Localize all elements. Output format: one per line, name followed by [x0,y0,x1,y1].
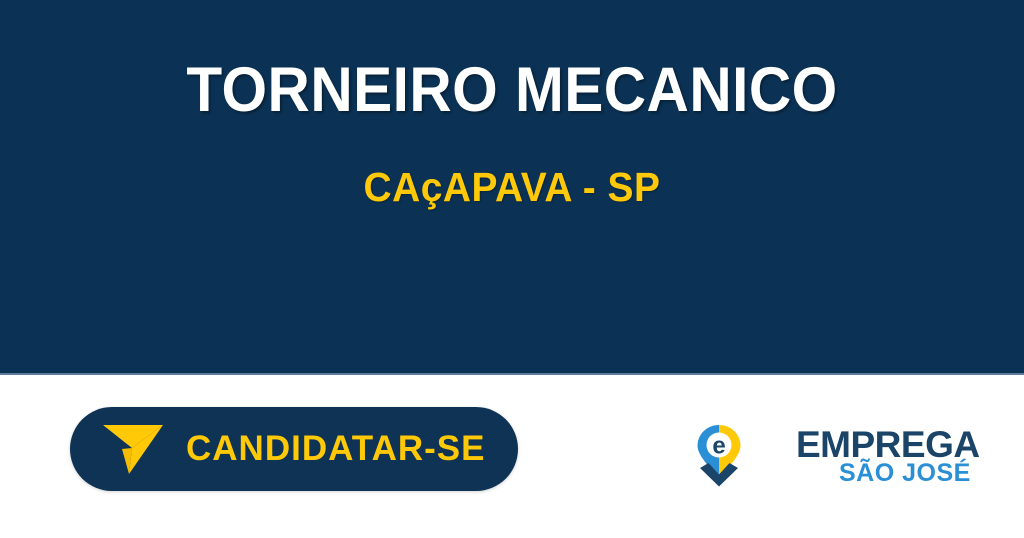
hero-panel: TORNEIRO MECANICO CAçAPAVA - SP [0,0,1024,375]
job-posting-card: TORNEIRO MECANICO CAçAPAVA - SP CANDIDAT… [0,0,1024,538]
map-pin-icon: e [696,424,742,493]
apply-button-label: CANDIDATAR-SE [186,429,485,469]
page-title: TORNEIRO MECANICO [36,57,988,123]
brand-city: SÃO JOSÉ [839,460,971,486]
job-location: CAçAPAVA - SP [26,164,999,210]
svg-text:e: e [712,433,725,460]
apply-button[interactable]: CANDIDATAR-SE [70,407,518,491]
brand-logo[interactable]: e EMPREGA SÃO JOSÉ [696,424,901,492]
send-icon [102,419,164,479]
